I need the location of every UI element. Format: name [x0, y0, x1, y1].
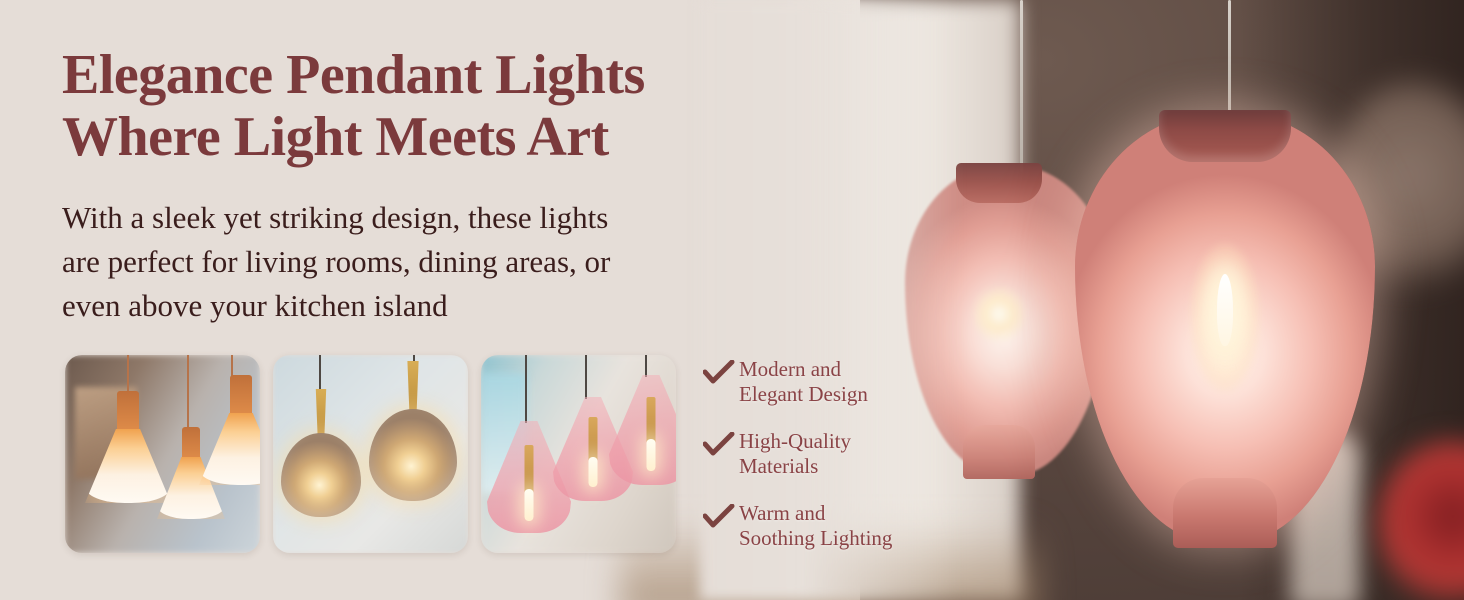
check-icon [703, 432, 739, 458]
feature-list: Modern and Elegant Design High-Quality M… [703, 357, 953, 551]
thumb-cord [525, 355, 527, 423]
thumb-pendant [199, 375, 260, 485]
lamp-bottom-small [963, 425, 1035, 479]
lamp-glow-small [973, 284, 1025, 344]
lamp-cord-small [1020, 0, 1023, 172]
promo-banner: Elegance Pendant Lights Where Light Meet… [0, 0, 1464, 600]
check-icon [703, 360, 739, 386]
thumb-cord [585, 355, 587, 399]
list-item: Warm and Soothing Lighting [703, 501, 953, 551]
thumbnail-white-orange-cone-pendants[interactable] [65, 355, 260, 553]
thumb-pendant [609, 375, 676, 497]
thumb-cord [127, 355, 129, 393]
content-panel: Elegance Pendant Lights Where Light Meet… [0, 0, 760, 600]
thumbnail-pink-glass-pendants[interactable] [481, 355, 676, 553]
thumb-pendant [369, 361, 457, 501]
thumb-cord [645, 355, 647, 377]
thumb-cord [187, 355, 189, 429]
thumb-pendant [281, 389, 361, 517]
page-title: Elegance Pendant Lights Where Light Meet… [62, 44, 782, 168]
pendant-lamp-large [1075, 112, 1375, 542]
thumbnail-gallery [65, 355, 676, 553]
lamp-filament-large [1217, 274, 1233, 346]
thumbnail-amber-teardrop-pendants[interactable] [273, 355, 468, 553]
thumb-cord [231, 355, 233, 377]
page-subtitle: With a sleek yet striking design, these … [62, 196, 762, 328]
feature-label: Warm and Soothing Lighting [739, 501, 892, 551]
lamp-cord-large [1228, 0, 1231, 120]
lamp-bottom-large [1173, 478, 1277, 548]
thumb-cord [319, 355, 321, 391]
feature-label: High-Quality Materials [739, 429, 851, 479]
list-item: Modern and Elegant Design [703, 357, 953, 407]
check-icon [703, 504, 739, 530]
lamp-top-small [956, 163, 1042, 203]
list-item: High-Quality Materials [703, 429, 953, 479]
lamp-top-large [1159, 110, 1291, 162]
feature-label: Modern and Elegant Design [739, 357, 868, 407]
